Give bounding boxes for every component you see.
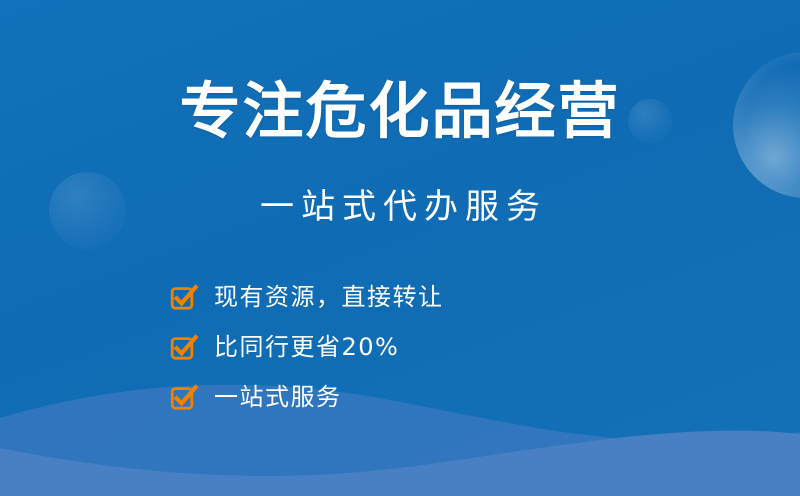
checkbox-check-icon — [170, 283, 198, 311]
list-item: 一站式服务 — [170, 372, 590, 422]
page-title: 专注危化品经营 — [0, 79, 800, 145]
banner-content: 专注危化品经营 一站式代办服务 现有资源，直接转让 比同行更省20% — [0, 0, 800, 496]
list-item-label: 一站式服务 — [214, 383, 342, 411]
list-item: 现有资源，直接转让 — [170, 272, 590, 322]
list-item: 比同行更省20% — [170, 322, 590, 372]
page-subtitle: 一站式代办服务 — [0, 185, 800, 229]
promo-banner: 专注危化品经营 一站式代办服务 现有资源，直接转让 比同行更省20% — [0, 0, 800, 496]
feature-list: 现有资源，直接转让 比同行更省20% 一站式服务 — [170, 272, 590, 422]
checkbox-check-icon — [170, 333, 198, 361]
checkbox-check-icon — [170, 383, 198, 411]
list-item-label: 现有资源，直接转让 — [214, 283, 444, 311]
list-item-label: 比同行更省20% — [214, 333, 399, 361]
